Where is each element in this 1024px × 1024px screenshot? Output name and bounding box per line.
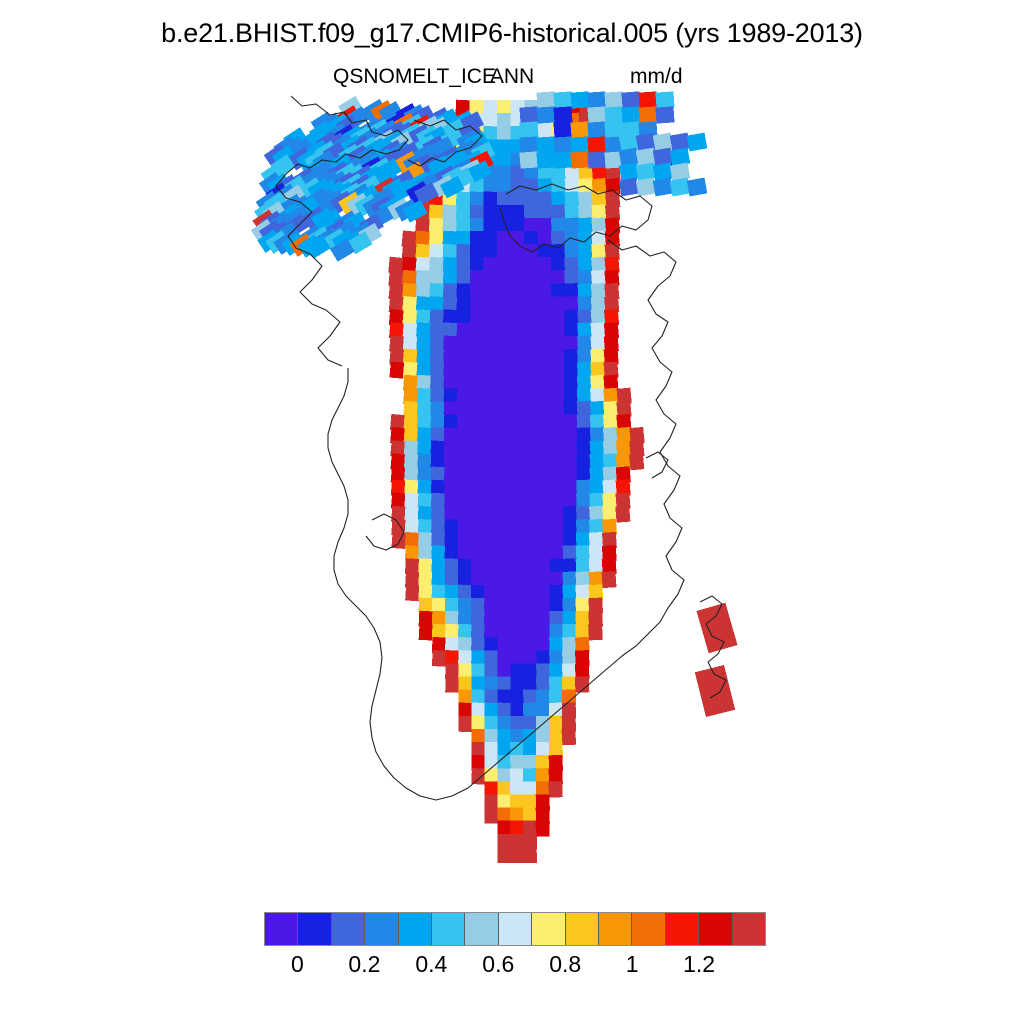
map-cell [553, 106, 572, 123]
map-cell [587, 106, 606, 123]
map-cell [536, 91, 555, 108]
units-label: mm/d [630, 62, 683, 92]
map-cell [553, 151, 572, 168]
map-cell [687, 178, 708, 197]
colorbar-swatch [465, 913, 498, 945]
map-cell [570, 91, 589, 108]
map-cell [536, 821, 550, 837]
colorbar-tick-label: 0 [291, 950, 304, 978]
map-cell [519, 106, 538, 123]
map-cell [519, 136, 538, 153]
colorbar-swatch [566, 913, 599, 945]
greenland-map [0, 90, 1024, 870]
map-cell [405, 584, 420, 601]
map-cell [653, 178, 674, 197]
map-cell [638, 106, 657, 123]
colorbar [264, 912, 766, 946]
map-cell [523, 847, 537, 863]
map-cell [655, 106, 674, 123]
colorbar-tick-label: 0.4 [415, 950, 447, 978]
colorbar-tick-label: 1.2 [683, 950, 715, 978]
map-cell [536, 136, 555, 153]
map-cell [587, 151, 606, 168]
map-cell [588, 624, 603, 641]
map-cell [587, 121, 606, 138]
map-cell [389, 362, 404, 379]
map-cell [553, 136, 572, 153]
colorbar-swatch [666, 913, 699, 945]
map-cell [615, 506, 630, 523]
map-cell [602, 571, 617, 588]
map-cell [553, 121, 572, 138]
colorbar-swatch [733, 913, 765, 945]
map-cell [419, 624, 434, 641]
map-cell [510, 847, 524, 863]
colorbar-swatch [699, 913, 732, 945]
colorbar-swatch [599, 913, 632, 945]
map-cell [536, 106, 555, 123]
map-cell [445, 676, 459, 692]
map-cell [458, 716, 472, 732]
colorbar-swatch [532, 913, 565, 945]
colorbar-labels: 00.20.40.60.811.2 [264, 950, 766, 980]
map-cell [619, 178, 640, 197]
map-cell [497, 847, 511, 863]
colorbar-swatch [365, 913, 398, 945]
map-cell [519, 121, 538, 138]
colorbar-tick-label: 0.8 [549, 950, 581, 978]
map-cell [604, 91, 623, 108]
map-cell [587, 136, 606, 153]
map-cell [432, 650, 447, 667]
map-cell [695, 665, 735, 717]
map-cell [485, 808, 499, 824]
map-cell [519, 151, 538, 168]
colorbar-swatch [332, 913, 365, 945]
colorbar-tick-label: 0.6 [482, 950, 514, 978]
map-cell [629, 453, 644, 470]
map-cell [587, 91, 606, 108]
colorbar-swatch [298, 913, 331, 945]
colorbar-swatch [632, 913, 665, 945]
map-cell [670, 178, 691, 197]
map-cell [536, 151, 555, 168]
map-cell [562, 729, 576, 745]
map-cell [570, 151, 589, 168]
climate-map-figure: b.e21.BHIST.f09_g17.CMIP6-historical.005… [0, 0, 1024, 1024]
colorbar-swatch [432, 913, 465, 945]
map-cell [549, 781, 563, 797]
map-cell [638, 91, 657, 108]
map-cell [636, 178, 657, 197]
season-label: ANN [0, 62, 1024, 92]
map-cell [553, 91, 572, 108]
map-cell [604, 106, 623, 123]
colorbar-swatch [399, 913, 432, 945]
map-cell [570, 136, 589, 153]
map-cell [697, 603, 738, 654]
map-panel [0, 90, 1024, 870]
map-cell [621, 91, 640, 108]
colorbar-swatch [265, 913, 298, 945]
colorbar-tick-label: 1 [626, 950, 639, 978]
map-cell [655, 91, 674, 108]
page-title: b.e21.BHIST.f09_g17.CMIP6-historical.005… [0, 16, 1024, 50]
colorbar-swatch [499, 913, 532, 945]
map-cell [621, 106, 640, 123]
map-cell [687, 133, 708, 152]
colorbar-tick-label: 0.2 [348, 950, 380, 978]
map-cell [472, 768, 486, 784]
map-cell [570, 121, 589, 138]
